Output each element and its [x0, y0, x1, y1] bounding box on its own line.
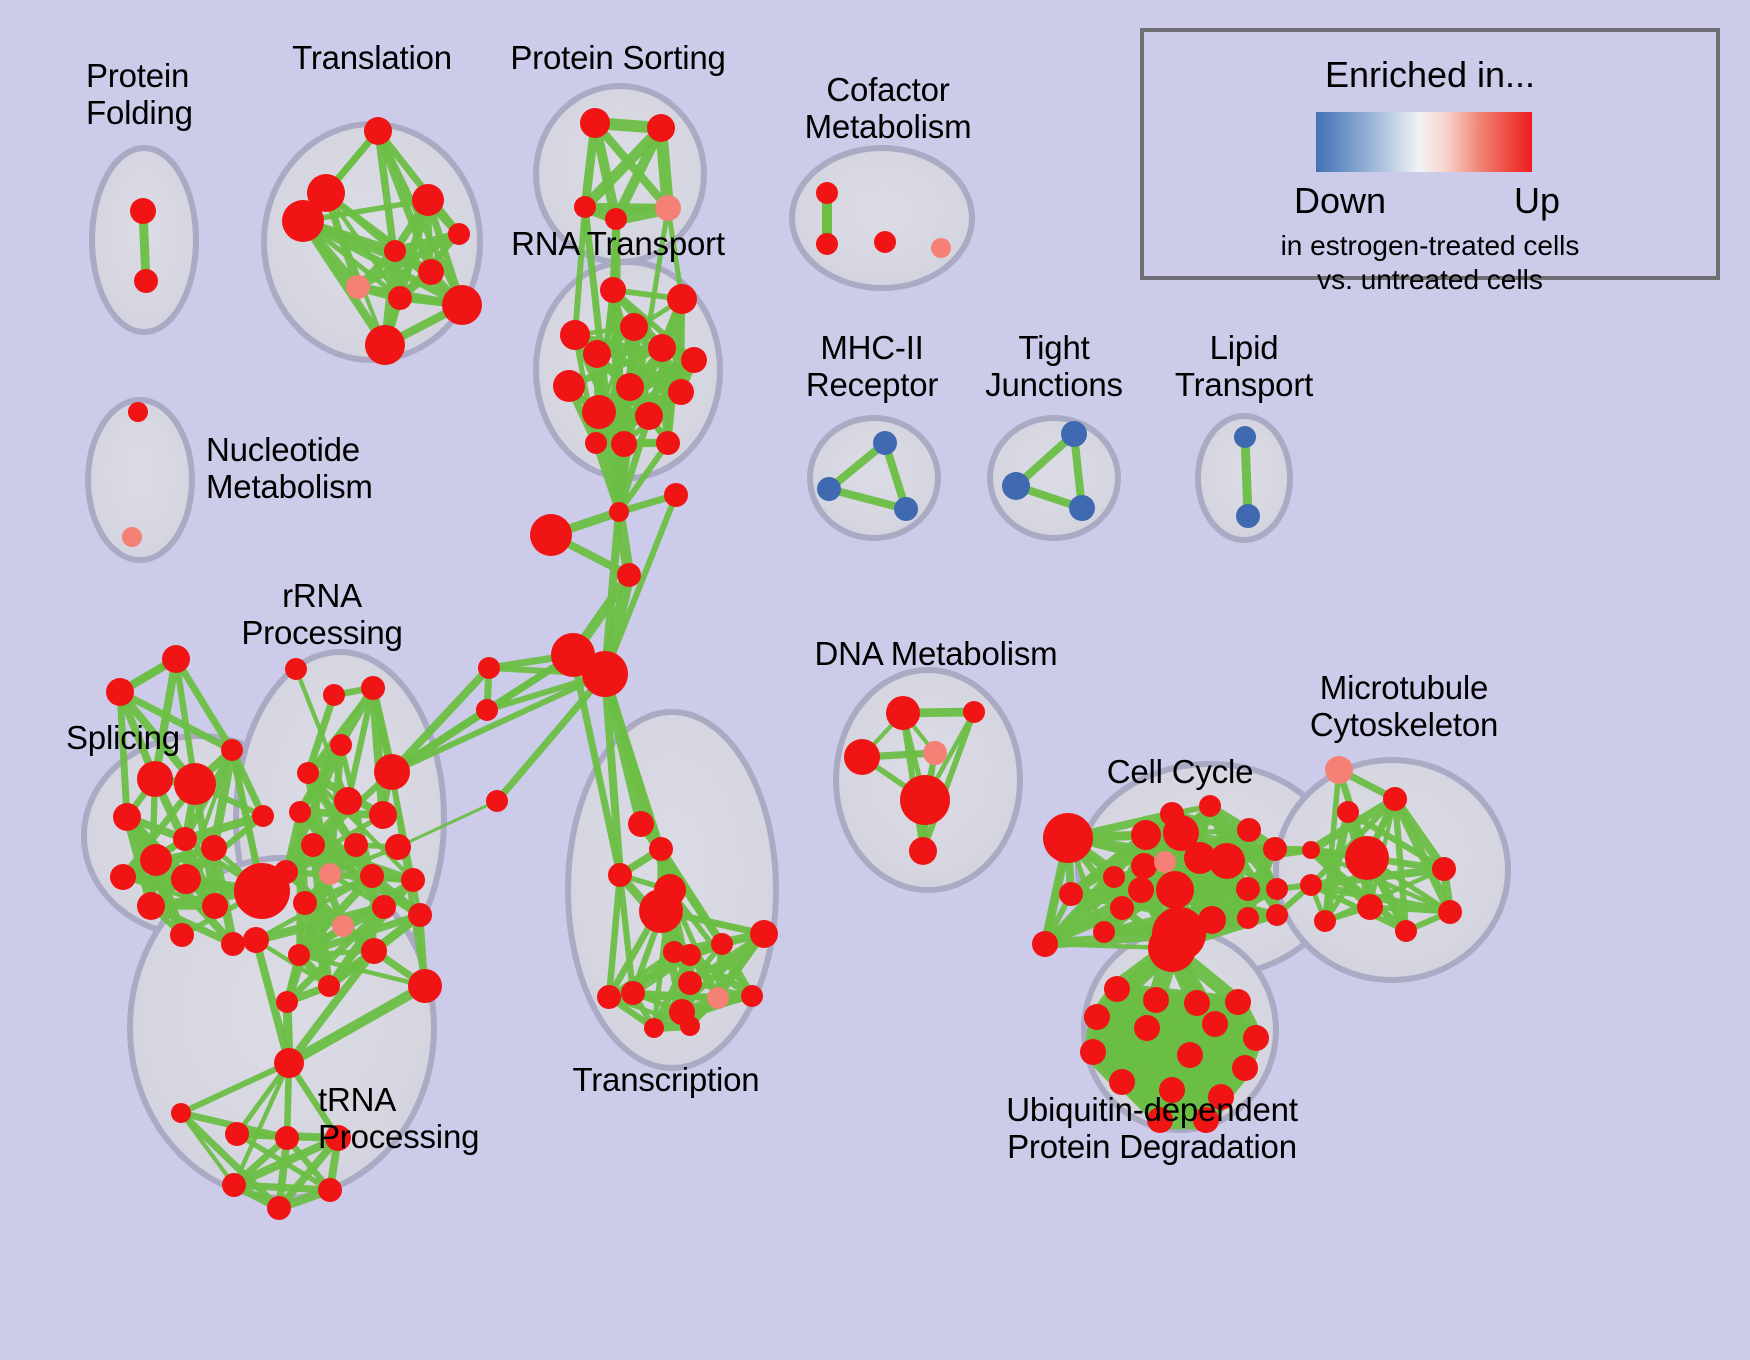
network-node[interactable] [635, 402, 663, 430]
network-node[interactable] [372, 895, 396, 919]
network-node[interactable] [582, 651, 628, 697]
cluster-label: Transcription [573, 1062, 760, 1099]
network-node[interactable] [222, 1173, 246, 1197]
legend-color-gradient-bar [1316, 112, 1532, 172]
network-node[interactable] [886, 696, 920, 730]
network-node[interactable] [301, 833, 325, 857]
network-node[interactable] [173, 827, 197, 851]
network-node[interactable] [401, 868, 425, 892]
network-node[interactable] [711, 933, 733, 955]
network-node[interactable] [1069, 495, 1095, 521]
cluster-label: Protein Sorting [510, 40, 725, 77]
network-node[interactable] [384, 240, 406, 262]
network-node[interactable] [1263, 837, 1287, 861]
network-node[interactable] [369, 801, 397, 829]
network-node[interactable] [639, 889, 683, 933]
network-node[interactable] [360, 864, 384, 888]
network-node[interactable] [318, 975, 340, 997]
network-node[interactable] [963, 701, 985, 723]
network-node[interactable] [1300, 874, 1322, 896]
network-node[interactable] [486, 790, 508, 812]
network-node[interactable] [874, 231, 896, 253]
network-node[interactable] [609, 502, 629, 522]
cluster-label: Tight Junctions [985, 330, 1123, 404]
network-node[interactable] [1325, 756, 1353, 784]
network-node[interactable] [680, 1016, 700, 1036]
network-node[interactable] [344, 833, 368, 857]
network-node[interactable] [171, 1103, 191, 1123]
network-node[interactable] [574, 196, 596, 218]
network-node[interactable] [1131, 853, 1157, 879]
network-node[interactable] [388, 286, 412, 310]
network-node[interactable] [288, 944, 310, 966]
network-node[interactable] [1225, 989, 1251, 1015]
network-node[interactable] [1337, 801, 1359, 823]
network-node[interactable] [750, 920, 778, 948]
network-node[interactable] [560, 320, 590, 350]
network-node[interactable] [110, 864, 136, 890]
network-node[interactable] [600, 277, 626, 303]
network-node[interactable] [1202, 1011, 1228, 1037]
network-node[interactable] [647, 114, 675, 142]
network-node[interactable] [1104, 976, 1130, 1002]
network-node[interactable] [1302, 841, 1320, 859]
network-node[interactable] [1156, 871, 1194, 909]
legend-down-label: Down [1294, 180, 1386, 222]
network-node[interactable] [816, 182, 838, 204]
network-node[interactable] [1432, 857, 1456, 881]
network-node[interactable] [476, 699, 498, 721]
network-node[interactable] [276, 991, 298, 1013]
network-node[interactable] [293, 891, 317, 915]
network-node[interactable] [667, 284, 697, 314]
network-node[interactable] [442, 285, 482, 325]
network-node[interactable] [621, 981, 645, 1005]
network-node[interactable] [1266, 878, 1288, 900]
network-node[interactable] [1357, 894, 1383, 920]
cluster-label: tRNA Processing [318, 1082, 479, 1156]
network-node[interactable] [275, 1126, 299, 1150]
network-node[interactable] [931, 238, 951, 258]
network-node[interactable] [478, 657, 500, 679]
network-node[interactable] [1236, 877, 1260, 901]
network-node[interactable] [894, 497, 918, 521]
network-node[interactable] [323, 684, 345, 706]
network-node[interactable] [1080, 1039, 1106, 1065]
network-node[interactable] [923, 741, 947, 765]
network-node[interactable] [364, 117, 392, 145]
network-node[interactable] [282, 200, 324, 242]
network-node[interactable] [1093, 921, 1115, 943]
network-node[interactable] [1128, 877, 1154, 903]
cluster-label: MHC-II Receptor [806, 330, 938, 404]
cluster-label: Cofactor Metabolism [805, 72, 972, 146]
cluster-label: Lipid Transport [1175, 330, 1313, 404]
network-node[interactable] [137, 761, 173, 797]
network-node[interactable] [681, 347, 707, 373]
network-node[interactable] [274, 860, 298, 884]
legend-title: Enriched in... [1144, 54, 1716, 96]
network-node[interactable] [816, 233, 838, 255]
network-node[interactable] [130, 198, 156, 224]
network-node[interactable] [1148, 924, 1196, 972]
network-node[interactable] [267, 1196, 291, 1220]
legend-subtitle-line1: in estrogen-treated cells [1144, 230, 1716, 262]
network-node[interactable] [553, 370, 585, 402]
network-node[interactable] [170, 923, 194, 947]
network-node[interactable] [1237, 818, 1261, 842]
network-node[interactable] [583, 340, 611, 368]
network-node[interactable] [611, 431, 637, 457]
network-node[interactable] [649, 837, 673, 861]
network-node[interactable] [385, 834, 411, 860]
network-node[interactable] [668, 379, 694, 405]
network-node[interactable] [707, 987, 729, 1009]
network-node[interactable] [134, 269, 158, 293]
network-node[interactable] [285, 658, 307, 680]
network-node[interactable] [678, 971, 702, 995]
network-node[interactable] [418, 259, 444, 285]
network-node[interactable] [174, 763, 216, 805]
network-node[interactable] [1438, 900, 1462, 924]
network-node[interactable] [137, 892, 165, 920]
network-node[interactable] [1059, 882, 1083, 906]
network-node[interactable] [1209, 843, 1245, 879]
network-node[interactable] [1103, 866, 1125, 888]
network-node[interactable] [346, 275, 370, 299]
legend-up-label: Up [1514, 180, 1560, 222]
network-node[interactable] [1110, 896, 1134, 920]
network-node[interactable] [1002, 472, 1030, 500]
cluster-label: DNA Metabolism [815, 636, 1058, 673]
network-node[interactable] [1177, 1042, 1203, 1068]
cluster-label: Nucleotide Metabolism [206, 432, 373, 506]
network-node[interactable] [448, 223, 470, 245]
cluster-label: Ubiquitin-dependent Protein Degradation [1006, 1092, 1298, 1166]
network-node[interactable] [289, 801, 311, 823]
network-node[interactable] [332, 915, 354, 937]
cluster-label: Splicing [66, 720, 180, 757]
network-node[interactable] [225, 1122, 249, 1146]
network-node[interactable] [1143, 987, 1169, 1013]
network-node[interactable] [608, 863, 632, 887]
network-node[interactable] [221, 739, 243, 761]
network-node[interactable] [334, 787, 362, 815]
network-node[interactable] [252, 805, 274, 827]
network-node[interactable] [1237, 907, 1259, 929]
network-node[interactable] [628, 811, 654, 837]
network-node[interactable] [616, 373, 644, 401]
network-node[interactable] [1266, 904, 1288, 926]
network-node[interactable] [1199, 795, 1221, 817]
network-node[interactable] [873, 431, 897, 455]
network-node[interactable] [243, 927, 269, 953]
network-node[interactable] [365, 325, 405, 365]
network-node[interactable] [655, 195, 681, 221]
enrichment-map-figure: Protein FoldingTranslationProtein Sortin… [0, 0, 1750, 1360]
network-node[interactable] [202, 893, 228, 919]
cluster-label: Microtubule Cytoskeleton [1310, 670, 1498, 744]
cluster-label: rRNA Processing [241, 578, 402, 652]
network-node[interactable] [656, 431, 680, 455]
network-node[interactable] [1243, 1025, 1269, 1051]
network-node[interactable] [319, 863, 341, 885]
network-node[interactable] [530, 514, 572, 556]
network-node[interactable] [597, 985, 621, 1009]
network-node[interactable] [374, 754, 410, 790]
network-node[interactable] [113, 803, 141, 831]
network-node[interactable] [648, 334, 676, 362]
network-node[interactable] [122, 527, 142, 547]
network-node[interactable] [679, 944, 701, 966]
network-node[interactable] [1236, 504, 1260, 528]
network-node[interactable] [221, 932, 245, 956]
network-node[interactable] [412, 184, 444, 216]
network-node[interactable] [1198, 906, 1226, 934]
network-node[interactable] [297, 762, 319, 784]
network-node[interactable] [408, 903, 432, 927]
network-node[interactable] [1395, 920, 1417, 942]
network-node[interactable] [1345, 836, 1389, 880]
network-node[interactable] [1084, 1004, 1110, 1030]
network-node[interactable] [844, 739, 880, 775]
cluster-label: Translation [292, 40, 452, 77]
network-node[interactable] [620, 313, 648, 341]
network-node[interactable] [140, 844, 172, 876]
network-node[interactable] [900, 775, 950, 825]
network-node[interactable] [582, 395, 616, 429]
cluster-label: Protein Folding [86, 58, 193, 132]
network-node[interactable] [128, 402, 148, 422]
network-node[interactable] [617, 563, 641, 587]
network-node[interactable] [1184, 990, 1210, 1016]
network-node[interactable] [1032, 931, 1058, 957]
network-node[interactable] [585, 432, 607, 454]
cluster-hull-cofactor [792, 148, 972, 288]
network-node[interactable] [318, 1178, 342, 1202]
network-node[interactable] [909, 837, 937, 865]
network-node[interactable] [1131, 820, 1161, 850]
network-node[interactable] [664, 483, 688, 507]
network-node[interactable] [741, 985, 763, 1007]
network-node[interactable] [408, 969, 442, 1003]
network-node[interactable] [1134, 1015, 1160, 1041]
network-node[interactable] [817, 477, 841, 501]
network-node[interactable] [1043, 813, 1093, 863]
network-node[interactable] [171, 864, 201, 894]
cluster-label: Cell Cycle [1107, 754, 1254, 791]
network-node[interactable] [361, 676, 385, 700]
network-node[interactable] [1232, 1055, 1258, 1081]
cluster-label: RNA Transport [511, 226, 725, 263]
network-node[interactable] [1314, 910, 1336, 932]
network-node[interactable] [106, 678, 134, 706]
network-node[interactable] [162, 645, 190, 673]
network-node[interactable] [361, 938, 387, 964]
network-node[interactable] [580, 108, 610, 138]
network-node[interactable] [1154, 851, 1176, 873]
network-node[interactable] [330, 734, 352, 756]
network-node[interactable] [1383, 787, 1407, 811]
network-node[interactable] [274, 1048, 304, 1078]
legend-panel: Enriched in... Down Up in estrogen-treat… [1140, 28, 1720, 280]
network-node[interactable] [1061, 421, 1087, 447]
legend-subtitle-line2: vs. untreated cells [1144, 264, 1716, 296]
network-node[interactable] [201, 835, 227, 861]
network-node[interactable] [1234, 426, 1256, 448]
network-node[interactable] [644, 1018, 664, 1038]
